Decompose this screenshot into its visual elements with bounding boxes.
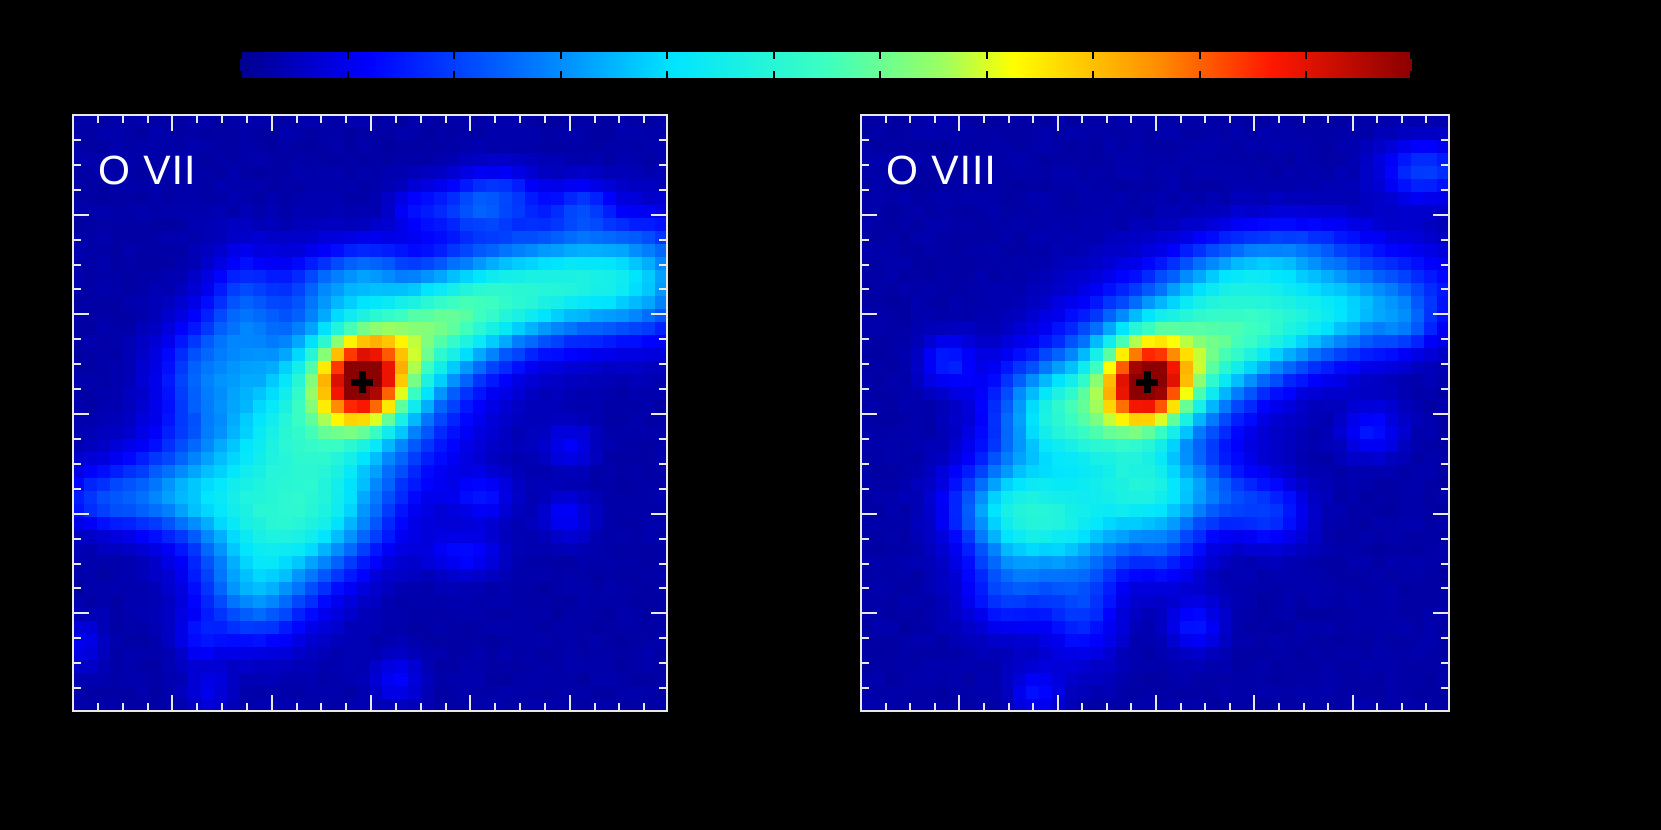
panel-label-ovii: O VII (98, 150, 196, 191)
heatmap-image-ovii (72, 114, 668, 712)
heatmap-image-oviii (860, 114, 1450, 712)
figure-root: O VII O VIII (0, 0, 1661, 830)
panel-label-oviii: O VIII (886, 150, 997, 191)
panel-oviii[interactable]: O VIII (860, 114, 1450, 712)
colorbar (240, 52, 1412, 78)
panel-ovii[interactable]: O VII (72, 114, 668, 712)
colorbar-gradient (240, 52, 1412, 78)
